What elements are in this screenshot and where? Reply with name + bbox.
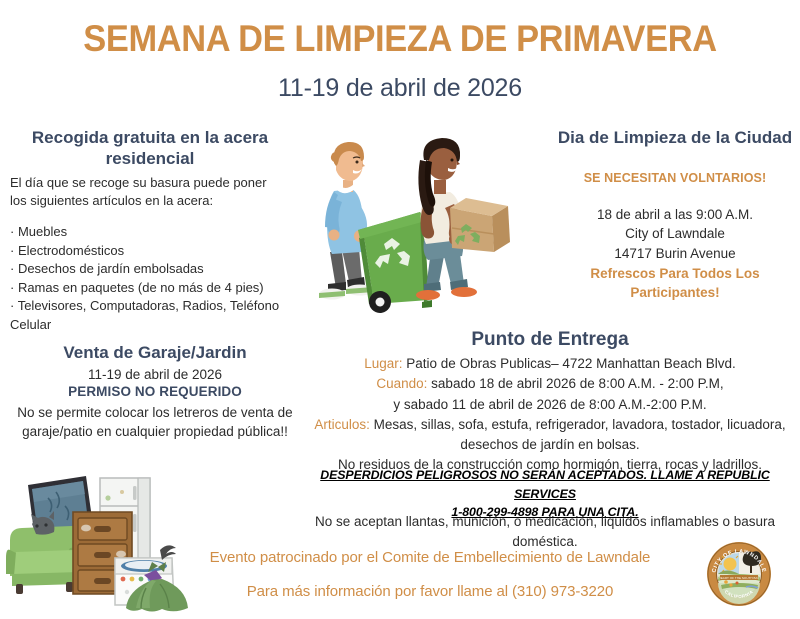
dropoff-point-section: Punto de Entrega Lugar: Patio de Obras P… [300, 328, 800, 476]
refreshments-line-1: Refrescos Para Todos Los [555, 265, 795, 284]
dropoff-when-label: Cuando: [376, 376, 427, 391]
garage-sale-heading: Venta de Garaje/Jardin [0, 343, 310, 364]
garage-sale-notice-line-1: No se permite colocar los letreros de ve… [0, 403, 310, 423]
list-item: · Muebles [10, 223, 296, 241]
curbside-intro-line-1: El día que se recoge su basura puede pon… [4, 174, 296, 192]
refreshments-line-2: Participantes! [555, 284, 795, 303]
page-title: SEMANA DE LIMPIEZA DE PRIMAVERA [28, 18, 772, 60]
cleanup-info-line-2: City of Lawndale [555, 224, 795, 243]
dropoff-items-line-2: desechos de jardín en bolsas. [300, 435, 800, 455]
garage-sale-permit-note: PERMISO NO REQUERIDO [0, 384, 310, 399]
dropoff-place-row: Lugar: Patio de Obras Publicas– 4722 Man… [300, 354, 800, 374]
dropoff-when-row: Cuando: sabado 18 de abril 2026 de 8:00 … [300, 374, 800, 394]
volunteers-needed-text: SE NECESITAN VOLNTARIOS! [555, 171, 795, 185]
seal-middle-text: HEART OF THE SOUTH BAY [718, 576, 759, 580]
dropoff-items-row: Articulos: Mesas, sillas, sofa, estufa, … [300, 415, 800, 435]
garage-sale-notice-line-2: garaje/patio en cualquier propiedad públ… [0, 422, 310, 442]
dropoff-when-value: sabado 18 de abril 2026 de 8:00 A.M. - 2… [427, 376, 723, 391]
city-cleanup-day-section: Dia de Limpieza de la Ciudad SE NECESITA… [555, 128, 795, 302]
list-item: · Electrodomésticos [10, 242, 296, 260]
cleanup-info-line-3: 14717 Burin Avenue [555, 244, 795, 263]
dropoff-when-line-2: y sabado 11 de abril de 2026 de 8:00 A.M… [300, 395, 800, 415]
curbside-pickup-section: Recogida gratuita en la acera residencia… [4, 128, 296, 334]
people-recycling-illustration [312, 132, 512, 322]
dropoff-place-label: Lugar: [364, 356, 402, 371]
curbside-intro-line-2: los siguientes artículos en la acera: [4, 192, 296, 210]
curbside-items-list: · Muebles · Electrodomésticos · Desechos… [4, 223, 296, 334]
dropoff-heading: Punto de Entrega [300, 328, 800, 351]
cleanup-info-line-1: 18 de abril a las 9:00 A.M. [555, 205, 795, 224]
sponsor-text: Evento patrocinado por el Comite de Embe… [150, 549, 710, 566]
city-cleanup-heading: Dia de Limpieza de la Ciudad [555, 128, 795, 149]
city-of-lawndale-seal: HEART OF THE SOUTH BAY CITY OF LAWNDALE … [706, 541, 772, 607]
dropoff-items-value: Mesas, sillas, sofa, estufa, refrigerado… [370, 417, 786, 432]
dropoff-place-value: Patio de Obras Publicas– 4722 Manhattan … [403, 356, 736, 371]
page-subtitle-dates: 11-19 de abril de 2026 [0, 74, 800, 103]
garage-sale-section: Venta de Garaje/Jardin 11-19 de abril de… [0, 343, 310, 442]
hazard-warning-line-1: DESPERDICIOS PELIGROSOS NO SERÁN ACEPTAD… [290, 466, 800, 503]
list-item: · Ramas en paquetes (de no más de 4 pies… [10, 279, 296, 297]
not-accepted-line-1: No se aceptan llantas, munición, o medic… [290, 512, 800, 532]
list-item: · Televisores, Computadoras, Radios, Tel… [10, 297, 296, 334]
dropoff-items-label: Articulos: [314, 417, 370, 432]
garage-sale-dates: 11-19 de abril de 2026 [0, 367, 310, 382]
list-item: · Desechos de jardín embolsadas [10, 260, 296, 278]
curbside-heading: Recogida gratuita en la acera residencia… [4, 128, 296, 169]
contact-phone-text: Para más información por favor llame al … [150, 583, 710, 600]
